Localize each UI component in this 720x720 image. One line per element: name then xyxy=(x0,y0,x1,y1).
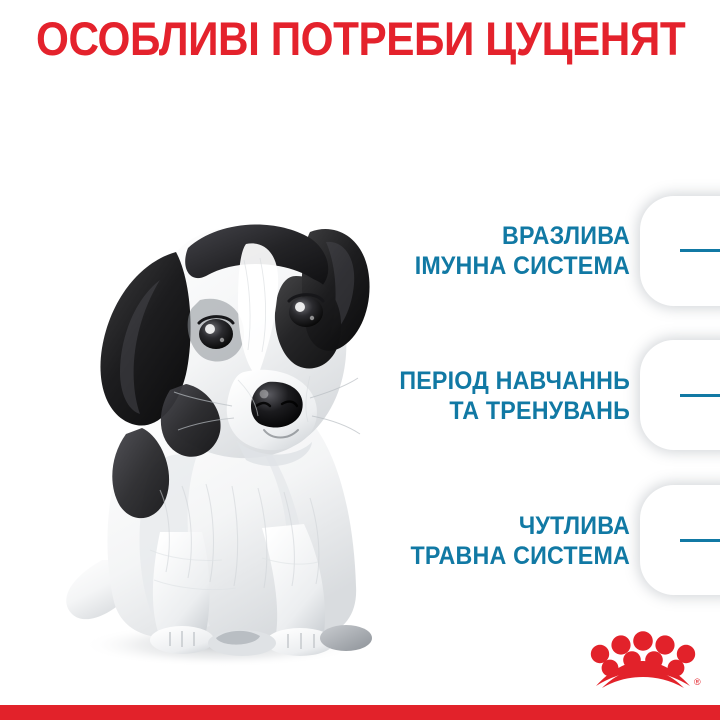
benefit-label-2: ПЕРІОД НАВЧАННЬ ТА ТРЕНУВАНЬ xyxy=(323,366,630,426)
benefit-label-2-line2: ТА ТРЕНУВАНЬ xyxy=(323,396,630,426)
poster-canvas: ОСОБЛИВІ ПОТРЕБИ ЦУЦЕНЯТ xyxy=(0,0,720,720)
benefit-label-3: ЧУТЛИВА ТРАВНА СИСТЕМА xyxy=(323,511,630,571)
benefit-label-1: ВРАЗЛИВА ІМУННА СИСТЕМА xyxy=(323,221,630,281)
benefit-label-2-line1: ПЕРІОД НАВЧАННЬ xyxy=(323,366,630,396)
benefit-label-3-line1: ЧУТЛИВА xyxy=(323,511,630,541)
benefit-connector-3 xyxy=(680,539,720,542)
page-title: ОСОБЛИВІ ПОТРЕБИ ЦУЦЕНЯТ xyxy=(36,14,684,64)
benefit-label-1-line2: ІМУННА СИСТЕМА xyxy=(323,251,630,281)
registered-mark: ® xyxy=(694,677,701,687)
benefit-connector-2 xyxy=(680,394,720,397)
royal-canin-crown-logo: ® xyxy=(588,628,702,690)
benefit-connector-1 xyxy=(680,249,720,252)
benefit-label-1-line1: ВРАЗЛИВА xyxy=(323,221,630,251)
benefit-label-3-line2: ТРАВНА СИСТЕМА xyxy=(323,541,630,571)
footer-red-bar xyxy=(0,705,720,720)
